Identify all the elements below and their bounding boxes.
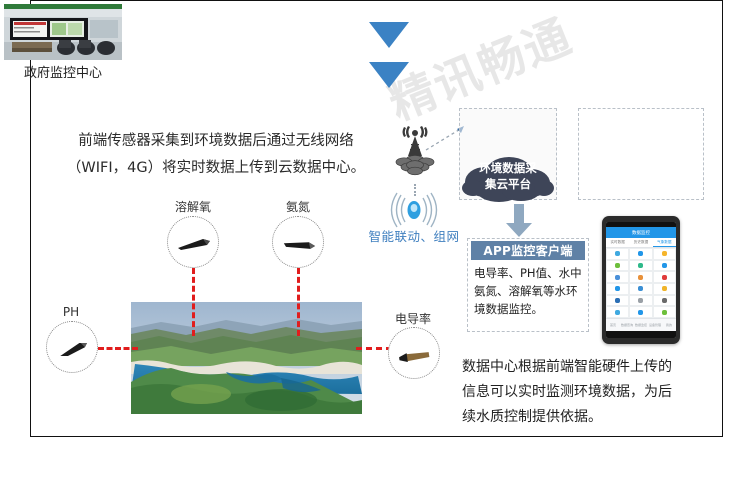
app-panel-body: 电导率、PH值、水中 氨氮、溶解氧等水环 境数据监控。 (474, 264, 584, 318)
phone-grid-cell[interactable] (606, 306, 629, 318)
phone-tab-2[interactable]: 气象数据 (653, 238, 676, 247)
infographic-canvas: 精讯畅通 前端传感器采集到环境数据后通过无线网络 （WIFI，4G）将实时数据上… (0, 0, 750, 485)
cloud-line-1: 环境数据采 (459, 160, 557, 176)
phone-grid-icon (662, 251, 667, 256)
phone-grid-cell[interactable] (653, 260, 676, 272)
headline-line-2: （WIFI，4G）将实时数据上传到云数据中心。 (56, 155, 376, 182)
headline-paragraph: 前端传感器采集到环境数据后通过无线网络 （WIFI，4G）将实时数据上传到云数据… (56, 128, 376, 182)
sensor-label-ph: PH (36, 305, 106, 319)
probe-icon-conductivity (398, 347, 432, 360)
reservoir-aerial-photo (131, 302, 362, 414)
sensor-conductivity[interactable] (388, 327, 440, 379)
connector-ammonia-nitrogen (297, 268, 300, 336)
bottom-line-2: 信息可以实时监测环境数据，为后 (462, 380, 718, 405)
bottom-paragraph: 数据中心根据前端智能硬件上传的 信息可以实时监测环境数据，为后 续水质控制提供依… (462, 355, 718, 430)
phone-grid-cell[interactable] (606, 271, 629, 283)
phone-grid-icon (662, 263, 667, 268)
bottom-line-3: 续水质控制提供依据。 (462, 405, 718, 430)
phone-nav-3[interactable]: 设备管理 (648, 319, 662, 331)
phone-grid-cell[interactable] (653, 295, 676, 307)
connector-ph (98, 347, 138, 350)
gov-control-room-photo (4, 4, 122, 60)
phone-app-header: 数据监控 (606, 227, 676, 238)
phone-grid-cell[interactable] (653, 306, 676, 318)
phone-grid-icon (615, 286, 620, 291)
phone-grid-icon (638, 263, 643, 268)
phone-grid-icon (615, 275, 620, 280)
down-triangle-icon-bottom (369, 62, 409, 88)
phone-grid-cell[interactable] (653, 271, 676, 283)
phone-nav-0[interactable]: 首页 (606, 319, 620, 331)
phone-tab-1[interactable]: 历史数据 (629, 238, 652, 247)
phone-home-bar (606, 331, 676, 338)
phone-grid-cell[interactable] (629, 283, 652, 295)
phone-grid-cell[interactable] (629, 295, 652, 307)
phone-bottom-nav[interactable]: 首页 数据查询 数据监控 设备管理 我的 (606, 318, 676, 331)
sensor-dissolved-oxygen[interactable] (167, 216, 219, 268)
phone-icon-grid[interactable] (606, 248, 676, 318)
sensor-ammonia-nitrogen[interactable] (272, 216, 324, 268)
app-body-line-2: 氨氮、溶解氧等水环 (474, 282, 584, 300)
phone-grid-cell[interactable] (653, 283, 676, 295)
phone-tab-bar[interactable]: 实时数据 历史数据 气象数据 (606, 238, 676, 248)
phone-grid-cell[interactable] (606, 295, 629, 307)
app-body-line-1: 电导率、PH值、水中 (474, 264, 584, 282)
down-triangle-icon-top (369, 22, 409, 48)
phone-grid-icon (638, 286, 643, 291)
phone-grid-icon (662, 275, 667, 280)
sensor-label-dissolved-oxygen: 溶解氧 (158, 198, 228, 215)
bottom-line-1: 数据中心根据前端智能硬件上传的 (462, 355, 718, 380)
connector-dissolved-oxygen (192, 268, 195, 336)
phone-grid-icon (638, 298, 643, 303)
app-panel-title: APP监控客户端 (471, 241, 585, 260)
gov-center-panel (578, 108, 704, 200)
phone-grid-icon (638, 310, 643, 315)
phone-grid-icon (615, 298, 620, 303)
phone-grid-cell[interactable] (606, 283, 629, 295)
probe-icon-ammonia-nitrogen (282, 236, 316, 249)
phone-grid-icon (662, 286, 667, 291)
phone-grid-icon (638, 251, 643, 256)
sensor-label-conductivity: 电导率 (378, 310, 448, 327)
cloud-line-2: 集云平台 (459, 176, 557, 192)
phone-grid-icon (662, 298, 667, 303)
phone-nav-1[interactable]: 数据查询 (620, 319, 634, 331)
phone-grid-cell[interactable] (606, 260, 629, 272)
link-label: 智能联动、组网 (352, 226, 476, 245)
app-body-line-3: 境数据监控。 (474, 300, 584, 318)
headline-line-1: 前端传感器采集到环境数据后通过无线网络 (56, 128, 376, 155)
phone-grid-cell[interactable] (629, 271, 652, 283)
gov-center-label: 政府监控中心 (0, 62, 126, 81)
phone-grid-icon (615, 251, 620, 256)
phone-grid-icon (662, 310, 667, 315)
phone-nav-2[interactable]: 数据监控 (634, 319, 648, 331)
phone-grid-cell[interactable] (629, 248, 652, 260)
phone-grid-cell[interactable] (629, 260, 652, 272)
phone-grid-icon (615, 310, 620, 315)
cloud-platform-text: 环境数据采 集云平台 (459, 160, 557, 192)
probe-icon-ph (56, 341, 90, 354)
phone-grid-icon (638, 275, 643, 280)
probe-icon-dissolved-oxygen (177, 236, 211, 249)
wifi-device-icon (388, 192, 440, 228)
phone-grid-cell[interactable] (629, 306, 652, 318)
phone-header-title: 数据监控 (632, 230, 650, 236)
phone-nav-4[interactable]: 我的 (662, 319, 676, 331)
phone-grid-icon (615, 263, 620, 268)
sensor-label-ammonia-nitrogen: 氨氮 (263, 198, 333, 215)
sensor-ph[interactable] (46, 321, 98, 373)
phone-tab-0[interactable]: 实时数据 (606, 238, 629, 247)
phone-grid-cell[interactable] (653, 248, 676, 260)
phone-mockup: 数据监控 实时数据 历史数据 气象数据 首页 数据查询 数据监控 设备管理 我的 (602, 216, 680, 344)
down-arrow-to-app (505, 204, 533, 238)
phone-grid-cell[interactable] (606, 248, 629, 260)
connector-conductivity (356, 347, 392, 350)
phone-screen: 数据监控 实时数据 历史数据 气象数据 首页 数据查询 数据监控 设备管理 我的 (606, 222, 676, 338)
